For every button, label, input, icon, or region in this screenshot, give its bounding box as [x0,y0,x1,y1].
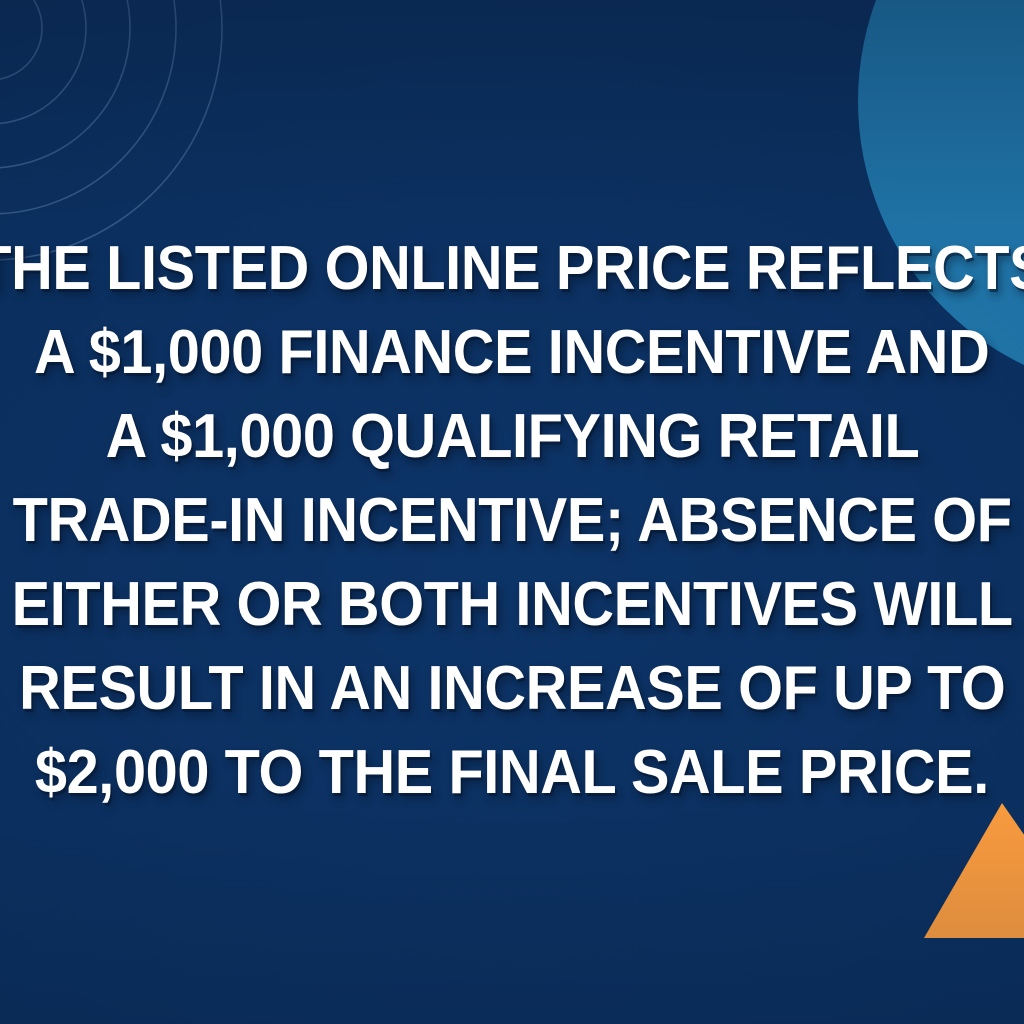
disclaimer-line-5: EITHER OR BOTH INCENTIVES WILL [11,563,1012,647]
disclaimer-line-7: $2,000 TO THE FINAL SALE PRICE. [35,731,989,815]
disclaimer-line-2: A $1,000 FINANCE INCENTIVE AND [34,311,989,395]
disclaimer-line-3: A $1,000 QUALIFYING RETAIL [105,395,919,479]
disclaimer-graphic: THE LISTED ONLINE PRICE REFLECTS A $1,00… [0,0,1024,1024]
disclaimer-text-block: THE LISTED ONLINE PRICE REFLECTS A $1,00… [0,0,1024,1024]
disclaimer-line-1: THE LISTED ONLINE PRICE REFLECTS [0,227,1024,311]
disclaimer-line-4: TRADE-IN INCENTIVE; ABSENCE OF [13,479,1012,563]
disclaimer-line-6: RESULT IN AN INCREASE OF UP TO [19,647,1005,731]
